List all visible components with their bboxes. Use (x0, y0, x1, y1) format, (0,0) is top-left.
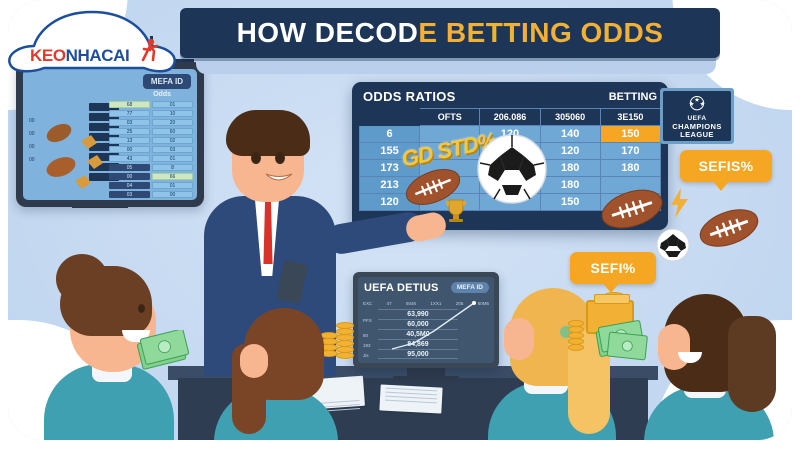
callout-bubble-sefi[interactable]: SEFI% (570, 252, 656, 284)
logo-text: KEONHACAI (30, 46, 129, 66)
odds-cell: 180 (600, 160, 660, 177)
page-title-white-part: HOW DECOD (237, 17, 419, 48)
left-tv-axis-labels: 00 00 00 00 (29, 115, 35, 167)
logo-text-keo: KEO (30, 46, 66, 65)
odds-col-2: 206.086 (480, 109, 540, 126)
presenter-hair (226, 110, 310, 156)
monitor-stand (407, 368, 445, 377)
trophy-icon (443, 196, 469, 224)
odds-cell-highlighted: 150 (600, 126, 660, 143)
callout-bubble-sefis-label: SEFIS% (699, 158, 754, 174)
desk-paper-right (379, 384, 442, 413)
running-man-icon (141, 38, 159, 66)
coin-stack-blonde (568, 320, 584, 356)
uefa-line-1: CHAMPIONS (672, 123, 721, 130)
uefa-champions-league-badge: UEFA CHAMPIONS LEAGUE (660, 88, 734, 144)
uefa-line-2: LEAGUE (680, 131, 714, 138)
tv-sports-icons (37, 117, 111, 195)
odds-board-title: ODDS RATIOS (363, 89, 456, 104)
odds-row-label: 6 (360, 126, 420, 143)
title-banner-shadow (196, 56, 716, 74)
odds-cell: 150 (540, 194, 600, 211)
odds-cell: 180 (540, 177, 600, 194)
page-title: HOW DECODE BETTING ODDS (237, 17, 664, 49)
desk-monitor: UEFA DETIUS MEFA ID EXC 47 5046 1XX1 205… (353, 272, 499, 368)
logo-text-nhacai: NHACAI (66, 46, 130, 65)
left-tv-grid: 6801 7710 0320 2560 1302 0003 4301 058 0… (109, 101, 193, 200)
odds-table-header-row: OFTS 206.086 305060 3E150 (360, 109, 661, 126)
odds-col-4: 3E150 (600, 109, 660, 126)
desk-monitor-screen: UEFA DETIUS MEFA ID EXC 47 5046 1XX1 205… (358, 277, 494, 363)
odds-board-header: ODDS RATIOS BETTING (359, 88, 661, 108)
odds-col-3: 305060 (540, 109, 600, 126)
uefa-top-label: UEFA (688, 115, 707, 122)
odds-cell: 140 (540, 126, 600, 143)
odds-col-0 (360, 109, 420, 126)
odds-cell: 120 (540, 143, 600, 160)
lightning-bolt-icon (668, 188, 690, 218)
monitor-trend-line (358, 277, 494, 363)
odds-board-subtitle: BETTING (609, 91, 657, 103)
uefa-starball-icon (687, 94, 707, 114)
odds-cell: 170 (600, 143, 660, 160)
odds-cell: 180 (540, 160, 600, 177)
odds-col-1: OFTS (420, 109, 480, 126)
soccer-ball-small-icon (656, 228, 690, 262)
cash-left-woman (136, 330, 192, 376)
soccer-ball-icon (476, 133, 548, 205)
presenter-face (244, 152, 304, 188)
callout-bubble-sefi-label: SEFI% (590, 260, 635, 276)
page-title-gold-part: E BETTING ODDS (418, 17, 663, 48)
illustration-root: MEFA ID Odds 00 00 00 00 6801 7710 0320 (0, 0, 800, 450)
callout-bubble-sefis[interactable]: SEFIS% (680, 150, 772, 182)
title-banner: HOW DECODE BETTING ODDS (180, 8, 720, 58)
coin-stack-desk-b (336, 322, 354, 364)
cash-ponytail-woman (604, 328, 650, 370)
brand-logo[interactable]: KEONHACAI (4, 2, 184, 102)
